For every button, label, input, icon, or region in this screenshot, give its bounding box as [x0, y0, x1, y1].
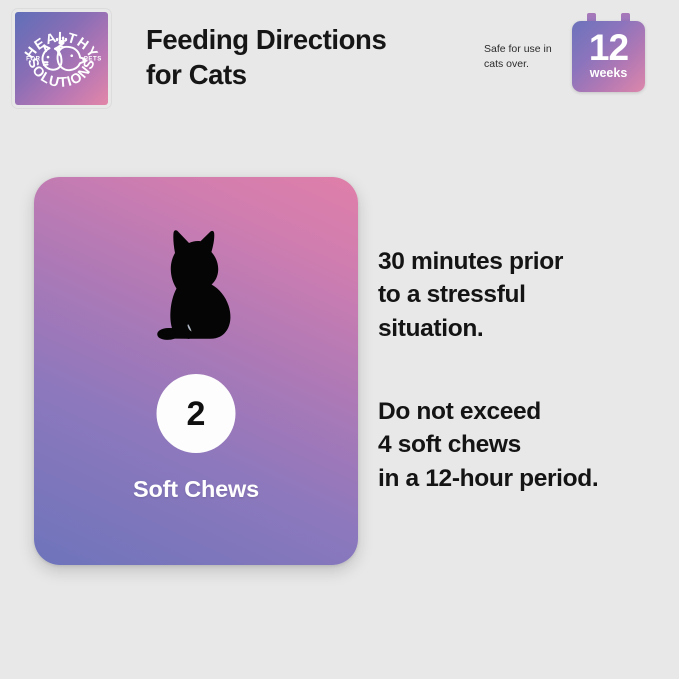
instruction-line: situation. — [378, 312, 668, 345]
age-badge-unit: weeks — [590, 67, 628, 80]
page-title: Feeding Directions for Cats — [146, 22, 476, 92]
instruction-block-timing: 30 minutes prior to a stressful situatio… — [378, 245, 668, 345]
dose-amount-badge: 2 — [157, 374, 236, 453]
instruction-line: 4 soft chews — [378, 428, 668, 461]
svg-text:FOR: FOR — [26, 56, 40, 62]
age-badge-number: 12 — [589, 31, 628, 65]
instruction-block-maximum: Do not exceed 4 soft chews in a 12-hour … — [378, 395, 668, 495]
brand-logo: HEALTHY SOLUTIONS FOR PETS — [15, 12, 108, 105]
instruction-line: 30 minutes prior — [378, 245, 668, 278]
instruction-line: in a 12-hour period. — [378, 462, 668, 495]
instruction-line: Do not exceed — [378, 395, 668, 428]
dose-card: 2 Soft Chews — [34, 177, 358, 565]
svg-text:PETS: PETS — [84, 56, 102, 62]
page-title-line-2: for Cats — [146, 57, 476, 92]
safe-for-use-note: Safe for use in cats over. — [484, 42, 569, 72]
dose-amount: 2 — [187, 397, 206, 431]
cat-silhouette-icon — [145, 227, 247, 345]
safe-note-line-2: cats over. — [484, 58, 529, 70]
feeding-directions-page: HEALTHY SOLUTIONS FOR PETS — [0, 0, 679, 679]
dose-label: Soft Chews — [34, 476, 358, 503]
calendar-icon: 12 weeks — [572, 21, 645, 92]
instruction-line: to a stressful — [378, 278, 668, 311]
safe-note-line-1: Safe for use in — [484, 43, 552, 55]
page-title-line-1: Feeding Directions — [146, 22, 476, 57]
age-badge: 12 weeks — [572, 13, 645, 92]
instructions: 30 minutes prior to a stressful situatio… — [378, 245, 668, 495]
